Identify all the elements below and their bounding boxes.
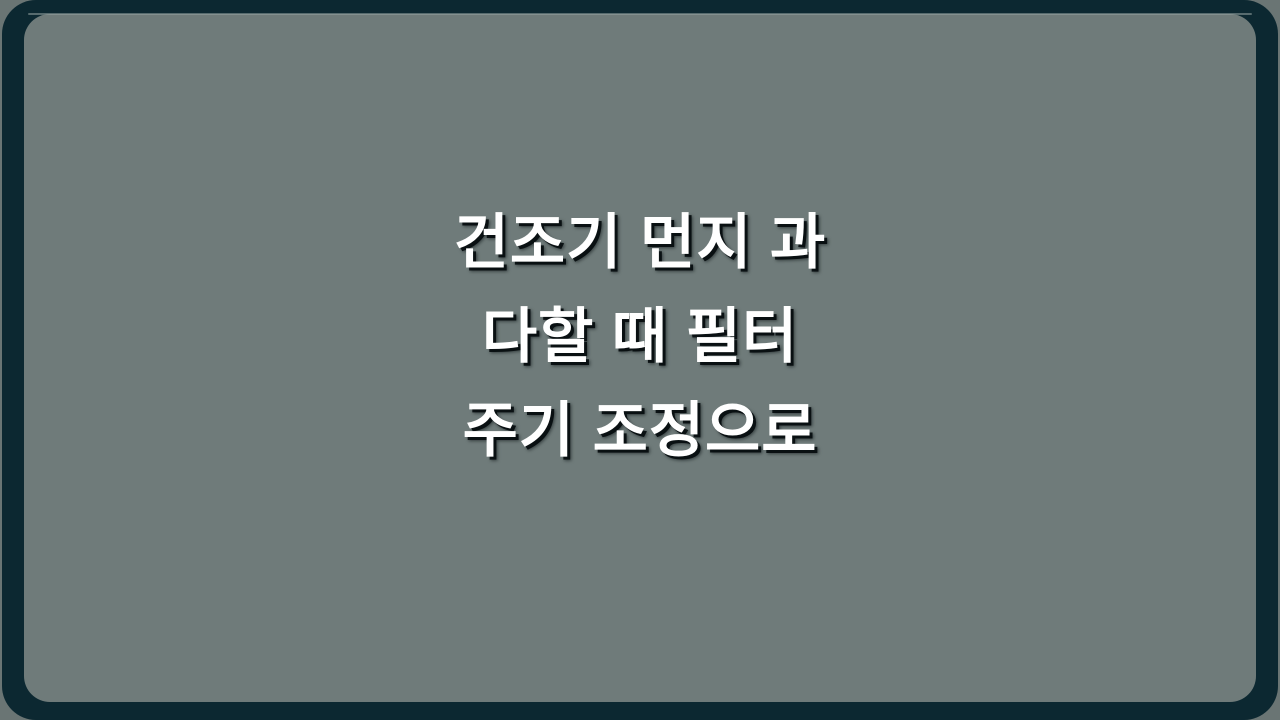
- title-line-3: 주기 조정으로: [463, 384, 818, 478]
- card-border-frame: 건조기 먼지 과 다할 때 필터 주기 조정으로: [2, 0, 1278, 720]
- title-block: 건조기 먼지 과 다할 때 필터 주기 조정으로: [2, 196, 1278, 478]
- title-line-1: 건조기 먼지 과: [454, 196, 827, 290]
- canvas-top-highlight: [28, 13, 1252, 15]
- thumbnail-card: 건조기 먼지 과 다할 때 필터 주기 조정으로: [0, 0, 1280, 720]
- title-line-2: 다할 때 필터: [482, 290, 798, 384]
